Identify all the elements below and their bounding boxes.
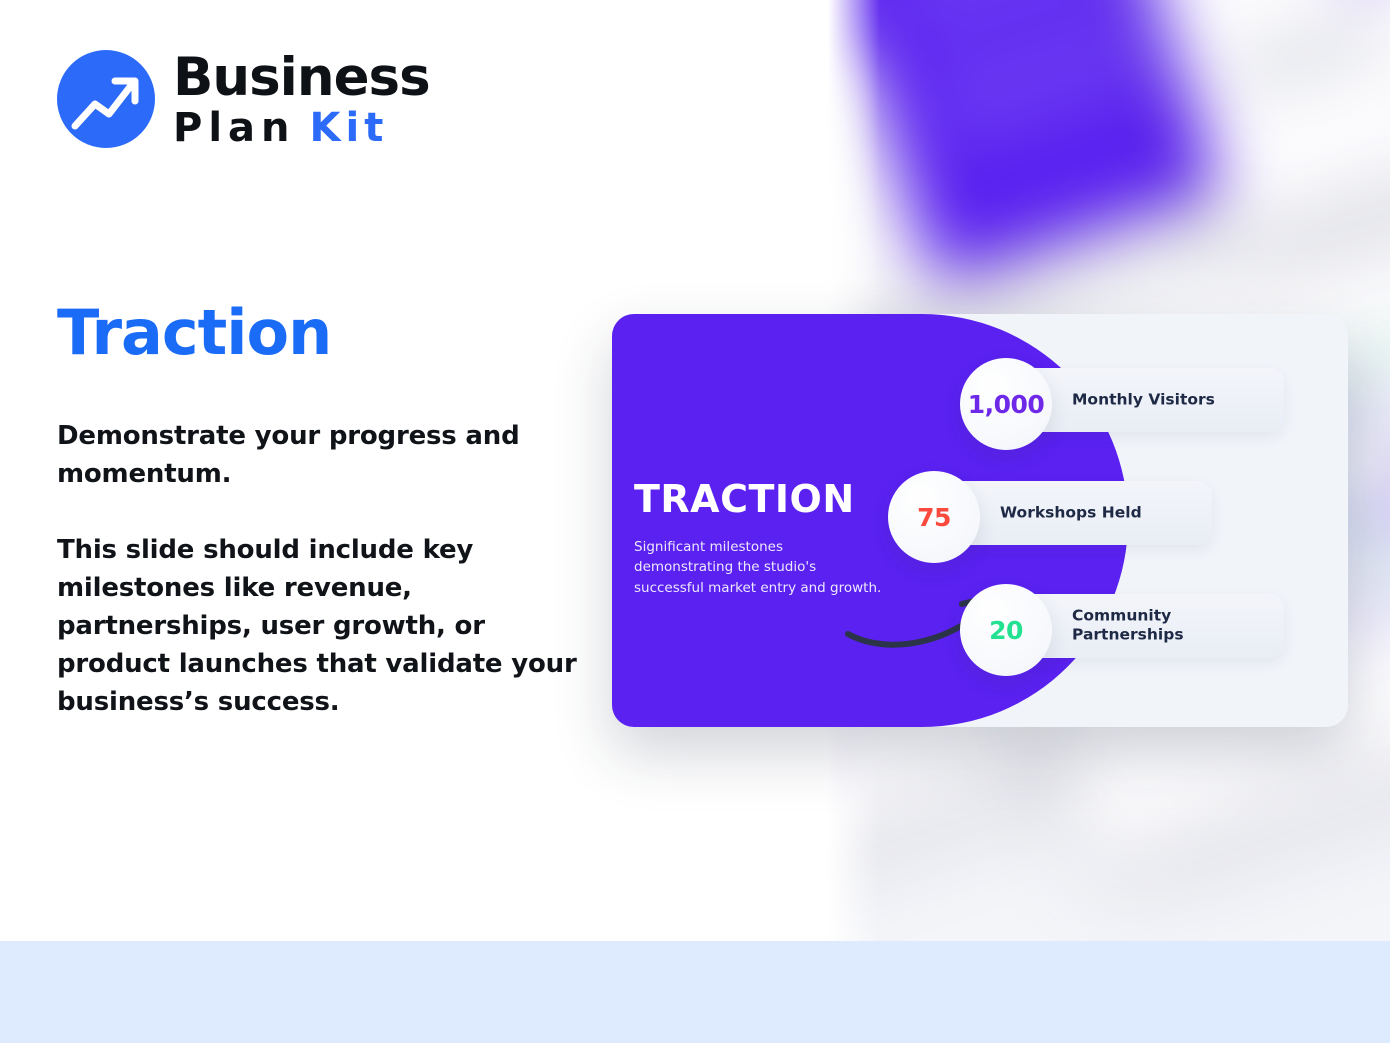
slide-preview-card[interactable]: TRACTION Significant milestones demonstr… bbox=[612, 314, 1348, 727]
growth-arrow-chart-icon bbox=[57, 50, 155, 148]
metric-value-circle: 20 bbox=[960, 584, 1052, 676]
metric-value-circle: 75 bbox=[888, 471, 980, 563]
page-title: Traction bbox=[57, 296, 331, 369]
metrics-list: 1,000 Monthly Visitors 75 Workshops Held… bbox=[902, 358, 1332, 697]
metric-label: Workshops Held bbox=[1000, 503, 1200, 522]
brand-logo: Business Plan Kit bbox=[57, 50, 430, 148]
brand-name-line1: Business bbox=[173, 51, 430, 104]
metric-row[interactable]: 75 Workshops Held bbox=[888, 471, 1332, 555]
metric-row[interactable]: 1,000 Monthly Visitors bbox=[960, 358, 1332, 442]
metric-row[interactable]: 20 Community Partnerships bbox=[960, 584, 1332, 668]
metric-value: 75 bbox=[917, 503, 951, 532]
metric-label: Community Partnerships bbox=[1072, 607, 1272, 646]
metric-label: Monthly Visitors bbox=[1072, 390, 1272, 409]
body-paragraph-1: Demonstrate your progress and momentum. bbox=[57, 418, 597, 494]
metric-value-circle: 1,000 bbox=[960, 358, 1052, 450]
brand-name-plan: Plan bbox=[173, 108, 296, 148]
slide-heading: TRACTION bbox=[634, 477, 914, 521]
body-copy: Demonstrate your progress and momentum. … bbox=[57, 418, 597, 722]
body-paragraph-2: This slide should include key milestones… bbox=[57, 532, 597, 722]
metric-value: 20 bbox=[989, 616, 1023, 645]
slide-text-block: TRACTION Significant milestones demonstr… bbox=[634, 314, 914, 598]
bottom-accent-band bbox=[0, 941, 1390, 1043]
brand-name-kit: Kit bbox=[310, 108, 389, 148]
slide-canvas: Business Plan Kit Traction Demonstrate y… bbox=[0, 0, 1390, 1043]
metric-value: 1,000 bbox=[968, 390, 1045, 419]
brand-wordmark: Business Plan Kit bbox=[173, 51, 430, 148]
